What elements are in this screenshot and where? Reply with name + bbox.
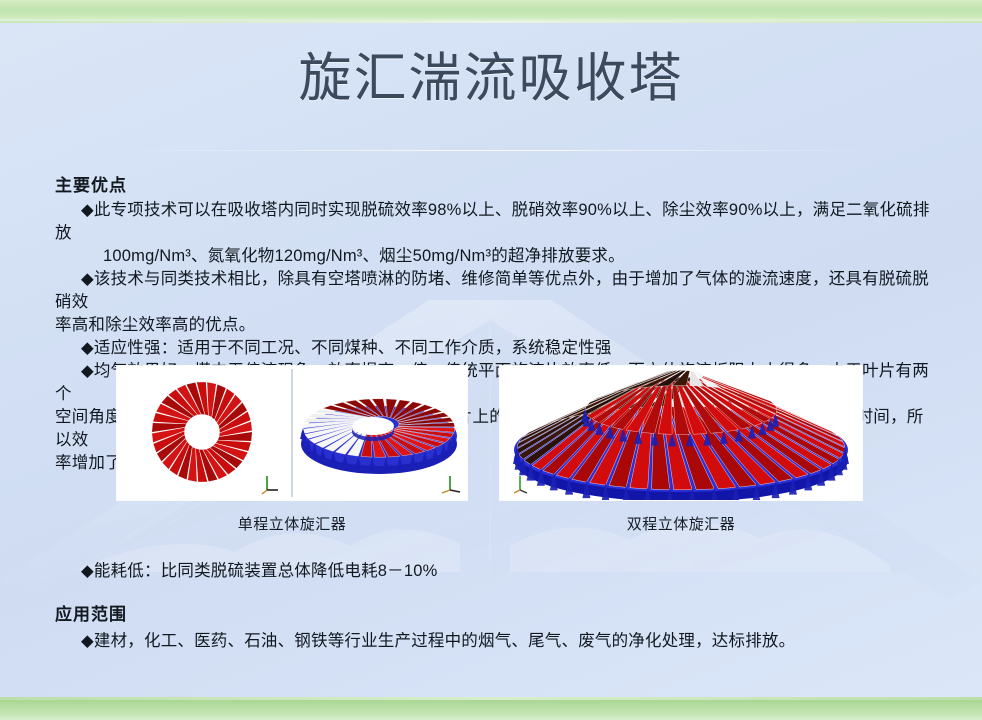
advantages-bullet-1-cont: 100mg/Nm³、氮氧化物120mg/Nm³、烟尘50mg/Nm³的超净排放要…: [55, 245, 935, 268]
top-view-annular-blade-ring: [152, 382, 252, 482]
bottom-accent-hairline: [0, 697, 982, 700]
caption-double-pass-swirl-device: 双程立体旋汇器: [500, 513, 862, 534]
figure-single-pass-swirl-device[interactable]: [117, 366, 467, 500]
figure-double-pass-swirl-device[interactable]: [500, 366, 862, 500]
double-pass-swirl-svg: [500, 366, 862, 500]
scope-heading: 应用范围: [55, 605, 935, 625]
top-accent-hairline: [0, 21, 982, 23]
energy-bullet: ◆能耗低：比同类脱硫装置总体降低电耗8－10%: [55, 560, 935, 583]
divider-hairline: [100, 150, 890, 151]
advantages-bullet-1: ◆此专项技术可以在吸收塔内同时实现脱硫效率98%以上、脱硝效率90%以上、除尘效…: [55, 199, 935, 245]
advantages-heading: 主要优点: [55, 176, 935, 196]
top-accent-band: [0, 0, 982, 22]
single-pass-swirl-svg: [117, 366, 467, 500]
energy-section: ◆能耗低：比同类脱硫装置总体降低电耗8－10%: [55, 560, 935, 583]
scope-bullet: ◆建材，化工、医药、石油、钢铁等行业生产过程中的烟气、尾气、废气的净化处理，达标…: [55, 630, 935, 653]
advantages-bullet-2: ◆该技术与同类技术相比，除具有空塔喷淋的防堵、维修简单等优点外，由于增加了气体的…: [55, 268, 935, 314]
bottom-accent-band: [0, 700, 982, 720]
scope-section: 应用范围 ◆建材，化工、医药、石油、钢铁等行业生产过程中的烟气、尾气、废气的净化…: [55, 605, 935, 653]
advantages-bullet-2-cont: 率高和除尘效率高的优点。: [55, 314, 935, 337]
caption-single-pass-swirl-device: 单程立体旋汇器: [117, 513, 467, 534]
advantages-bullet-3: ◆适应性强：适用于不同工况、不同煤种、不同工作介质，系统稳定性强: [55, 337, 935, 360]
page-title: 旋汇湍流吸收塔: [0, 47, 982, 111]
perspective-view-swirl-disc: [300, 399, 457, 474]
slide-canvas: 旋汇湍流吸收塔 主要优点 ◆此专项技术可以在吸收塔内同时实现脱硫效率98%以上、…: [0, 0, 982, 720]
